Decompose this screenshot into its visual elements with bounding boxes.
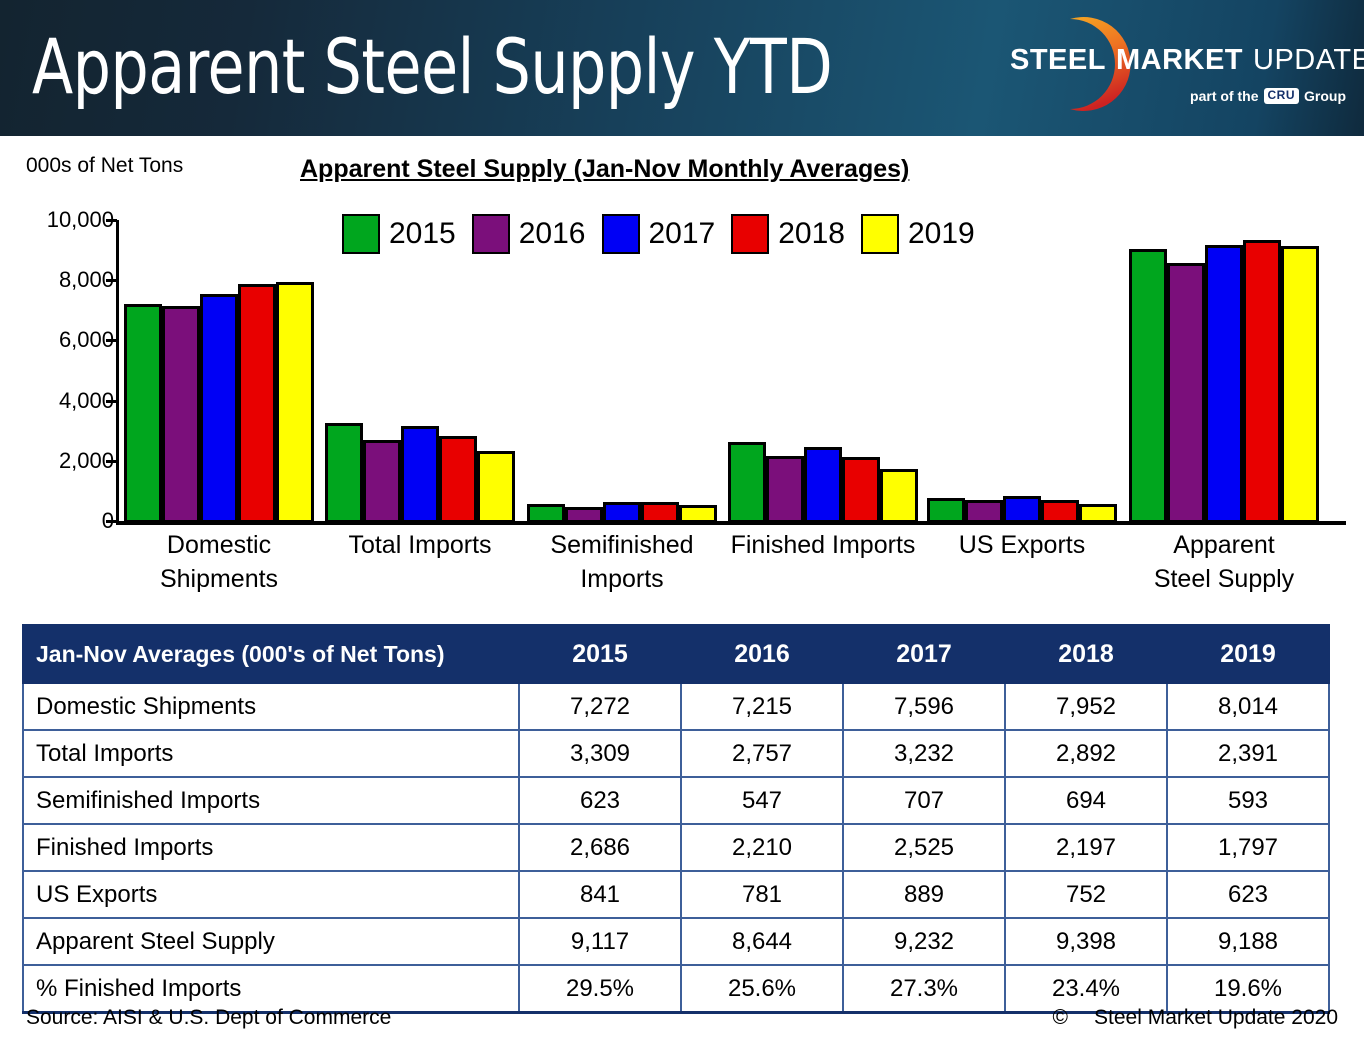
bar[interactable] [363, 440, 401, 523]
y-axis-tick-label: 2,000 [4, 448, 114, 474]
y-axis-tick-label: 6,000 [4, 327, 114, 353]
bar-groups [119, 200, 1346, 523]
bar[interactable] [880, 469, 918, 523]
bar[interactable] [238, 284, 276, 523]
table-body: Domestic Shipments7,2727,2157,5967,9528,… [23, 683, 1329, 1013]
bar-group-0 [124, 200, 314, 523]
table-cell: 27.3% [843, 965, 1005, 1013]
table-cell: 2,197 [1005, 824, 1167, 871]
table-row-label: US Exports [23, 871, 519, 918]
table-row: Total Imports3,3092,7573,2322,8922,391 [23, 730, 1329, 777]
table-cell: 752 [1005, 871, 1167, 918]
bar[interactable] [1243, 240, 1281, 523]
table-cell: 7,952 [1005, 683, 1167, 730]
bar[interactable] [679, 505, 717, 523]
bar[interactable] [1041, 500, 1079, 523]
table-header-year-2015: 2015 [519, 625, 681, 683]
table-cell: 2,391 [1167, 730, 1329, 777]
table-row-label: Finished Imports [23, 824, 519, 871]
table-header-year-2019: 2019 [1167, 625, 1329, 683]
table-cell: 29.5% [519, 965, 681, 1013]
logo-tagline: part of the CRU Group [1010, 88, 1352, 104]
y-axis-tick-label: 8,000 [4, 267, 114, 293]
chart-title: Apparent Steel Supply (Jan-Nov Monthly A… [300, 155, 909, 184]
logo-tagline-post: Group [1304, 88, 1346, 104]
table-cell: 889 [843, 871, 1005, 918]
table-cell: 8,014 [1167, 683, 1329, 730]
table-cell: 9,398 [1005, 918, 1167, 965]
x-axis-label-5: ApparentSteel Supply [1104, 528, 1344, 596]
table-cell: 2,210 [681, 824, 843, 871]
table-row-label: Apparent Steel Supply [23, 918, 519, 965]
logo-word-update: UPDATE [1253, 44, 1364, 76]
bar[interactable] [728, 442, 766, 523]
table-header: Jan-Nov Averages (000's of Net Tons) 201… [23, 625, 1329, 683]
table-cell: 7,272 [519, 683, 681, 730]
table-header-year-2016: 2016 [681, 625, 843, 683]
copyright-text: Steel Market Update 2020 [1094, 1006, 1338, 1029]
bar[interactable] [1003, 496, 1041, 523]
bar-group-2 [527, 200, 717, 523]
copyright-symbol: © [1053, 1006, 1068, 1029]
table-row-label: Domestic Shipments [23, 683, 519, 730]
table-cell: 593 [1167, 777, 1329, 824]
x-axis-label-line: Imports [502, 562, 742, 596]
logo-word-steel: STEEL [1010, 44, 1106, 76]
bar[interactable] [439, 436, 477, 523]
bar-group-1 [325, 200, 515, 523]
table-row: Semifinished Imports623547707694593 [23, 777, 1329, 824]
table-row: Domestic Shipments7,2727,2157,5967,9528,… [23, 683, 1329, 730]
bar[interactable] [276, 282, 314, 523]
table-cell: 2,686 [519, 824, 681, 871]
table-header-row: Jan-Nov Averages (000's of Net Tons) 201… [23, 625, 1329, 683]
bar[interactable] [641, 502, 679, 523]
bar[interactable] [842, 457, 880, 523]
table-cell: 9,117 [519, 918, 681, 965]
bar-group-5 [1129, 200, 1319, 523]
table-cell: 7,215 [681, 683, 843, 730]
table-header-label: Jan-Nov Averages (000's of Net Tons) [23, 625, 519, 683]
bar[interactable] [603, 502, 641, 523]
table-cell: 781 [681, 871, 843, 918]
table-row-label: Semifinished Imports [23, 777, 519, 824]
table-cell: 2,892 [1005, 730, 1167, 777]
table-header-year-2018: 2018 [1005, 625, 1167, 683]
bar[interactable] [325, 423, 363, 523]
bar[interactable] [401, 426, 439, 523]
logo-tagline-pre: part of the [1190, 88, 1258, 104]
source-note: Source: AISI & U.S. Dept of Commerce [26, 1006, 391, 1030]
bar[interactable] [804, 447, 842, 523]
bar[interactable] [1079, 504, 1117, 523]
bar[interactable] [200, 294, 238, 523]
logo-wordmark: STEELMARKETUPDATE [1010, 44, 1350, 77]
x-axis-labels: DomesticShipmentsTotal ImportsSemifinish… [0, 528, 1364, 604]
bar[interactable] [766, 456, 804, 523]
bar[interactable] [1129, 249, 1167, 523]
table-cell: 1,797 [1167, 824, 1329, 871]
x-axis-label-line: Apparent [1104, 528, 1344, 562]
bar-chart: 10,0008,0006,0004,0002,0000 201520162017… [0, 200, 1364, 540]
logo-word-market: MARKET [1116, 44, 1243, 76]
table-row: Finished Imports2,6862,2102,5252,1971,79… [23, 824, 1329, 871]
table-cell: 623 [519, 777, 681, 824]
bar[interactable] [927, 498, 965, 523]
copyright-note: ©Steel Market Update 2020 [1053, 1006, 1338, 1030]
table-cell: 9,232 [843, 918, 1005, 965]
page-title: Apparent Steel Supply YTD [32, 24, 832, 110]
bar[interactable] [565, 507, 603, 523]
table-cell: 841 [519, 871, 681, 918]
chart-units-label: 000s of Net Tons [26, 154, 183, 178]
table-cell: 2,757 [681, 730, 843, 777]
bar-group-4 [927, 200, 1117, 523]
table-header-year-2017: 2017 [843, 625, 1005, 683]
bar[interactable] [162, 306, 200, 523]
table-cell: 2,525 [843, 824, 1005, 871]
table-cell: 9,188 [1167, 918, 1329, 965]
y-axis: 10,0008,0006,0004,0002,0000 [0, 200, 114, 540]
bar-group-3 [728, 200, 918, 523]
table-row: US Exports841781889752623 [23, 871, 1329, 918]
table-cell: 7,596 [843, 683, 1005, 730]
table-cell: 547 [681, 777, 843, 824]
bar[interactable] [124, 304, 162, 523]
data-table: Jan-Nov Averages (000's of Net Tons) 201… [22, 624, 1330, 1014]
bar[interactable] [965, 500, 1003, 524]
table-cell: 8,644 [681, 918, 843, 965]
bar[interactable] [1167, 263, 1205, 523]
table-cell: 25.6% [681, 965, 843, 1013]
table-row-label: Total Imports [23, 730, 519, 777]
header-banner: Apparent Steel Supply YTD STEELMARKETUPD… [0, 0, 1364, 136]
y-axis-tick-label: 10,000 [4, 207, 114, 233]
table-cell: 3,232 [843, 730, 1005, 777]
table-cell: 694 [1005, 777, 1167, 824]
bar[interactable] [1205, 245, 1243, 523]
smu-logo: STEELMARKETUPDATE part of the CRU Group [1010, 10, 1346, 122]
bar[interactable] [477, 451, 515, 523]
table-row: Apparent Steel Supply9,1178,6449,2329,39… [23, 918, 1329, 965]
bar[interactable] [1281, 246, 1319, 523]
table-cell: 3,309 [519, 730, 681, 777]
table-cell: 623 [1167, 871, 1329, 918]
x-axis-label-line: Shipments [99, 562, 339, 596]
y-axis-tick-label: 4,000 [4, 388, 114, 414]
cru-badge: CRU [1264, 88, 1300, 104]
bar[interactable] [527, 504, 565, 523]
x-axis-label-line: Steel Supply [1104, 562, 1344, 596]
table-cell: 707 [843, 777, 1005, 824]
